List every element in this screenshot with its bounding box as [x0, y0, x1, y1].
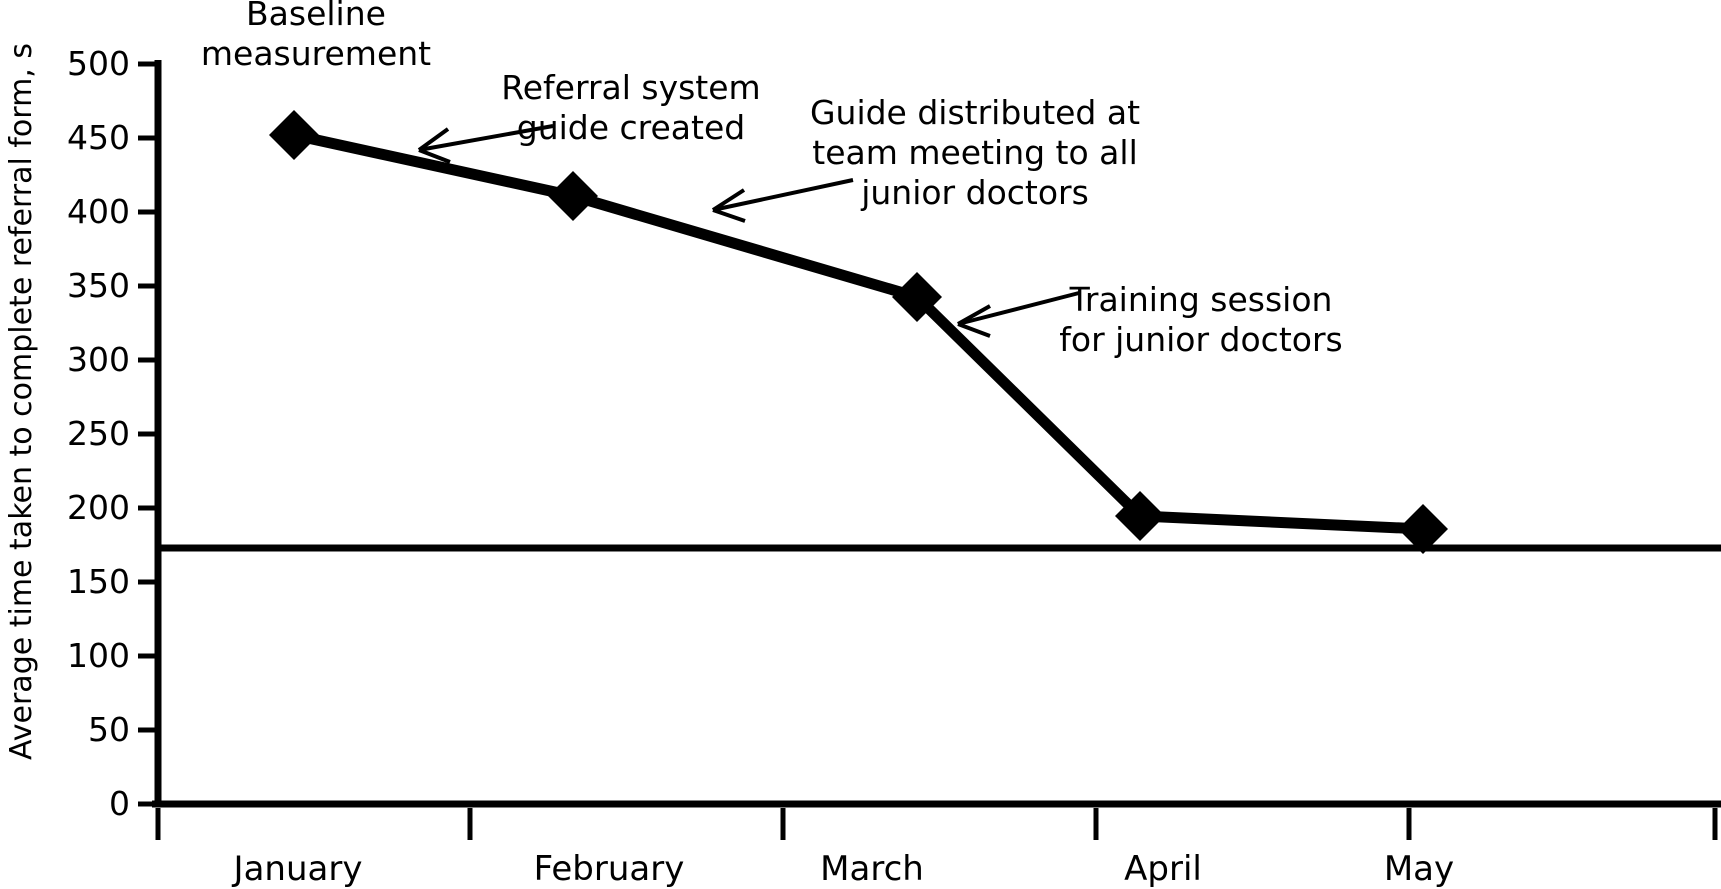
annotation-guide-distributed: Guide distributed at team meeting to all…	[713, 93, 1140, 221]
y-tick-label-400: 400	[67, 192, 130, 231]
annotation-referral-system-guide: Referral system guide created	[419, 68, 761, 162]
y-tick-label-450: 450	[67, 118, 130, 157]
annotation-guide-line1: Guide distributed at	[810, 93, 1140, 132]
annotation-guide-line2: team meeting to all	[812, 133, 1138, 172]
x-tick-label-february: February	[534, 849, 685, 889]
y-tick-label-50: 50	[88, 710, 130, 749]
y-tick-label-200: 200	[67, 488, 130, 527]
y-axis-title: Average time taken to complete referral …	[4, 43, 39, 760]
x-tick-label-april: April	[1124, 849, 1202, 889]
annotation-training-line1: Training session	[1069, 280, 1333, 319]
annotation-guide-line3: junior doctors	[860, 173, 1089, 212]
y-tick-label-350: 350	[67, 266, 130, 305]
x-tick-label-january: January	[232, 849, 363, 889]
annotation-guide-arrow-icon	[713, 180, 853, 221]
annotation-training-line2: for junior doctors	[1059, 320, 1342, 359]
run-chart: 500 450 400 350 300 250 200 150 100 50 0	[0, 0, 1721, 889]
x-tick-label-march: March	[820, 849, 924, 889]
annotation-baseline-measurement: Baseline measurement	[201, 0, 431, 73]
x-tick-label-may: May	[1384, 849, 1454, 889]
y-tick-label-500: 500	[67, 44, 130, 83]
data-point-january[interactable]	[269, 110, 319, 160]
chart-canvas: 500 450 400 350 300 250 200 150 100 50 0	[0, 0, 1721, 889]
annotation-baseline-line1: Baseline	[246, 0, 386, 33]
y-tick-label-250: 250	[67, 414, 130, 453]
y-tick-label-0: 0	[109, 784, 130, 823]
y-tick-label-150: 150	[67, 562, 130, 601]
data-point-february[interactable]	[548, 171, 598, 221]
annotation-referral-line1: Referral system	[501, 68, 760, 107]
x-axis-ticks	[158, 808, 1715, 840]
annotation-training-session: Training session for junior doctors	[958, 280, 1343, 359]
annotation-baseline-line2: measurement	[201, 34, 431, 73]
y-tick-label-100: 100	[67, 636, 130, 675]
y-tick-label-300: 300	[67, 340, 130, 379]
